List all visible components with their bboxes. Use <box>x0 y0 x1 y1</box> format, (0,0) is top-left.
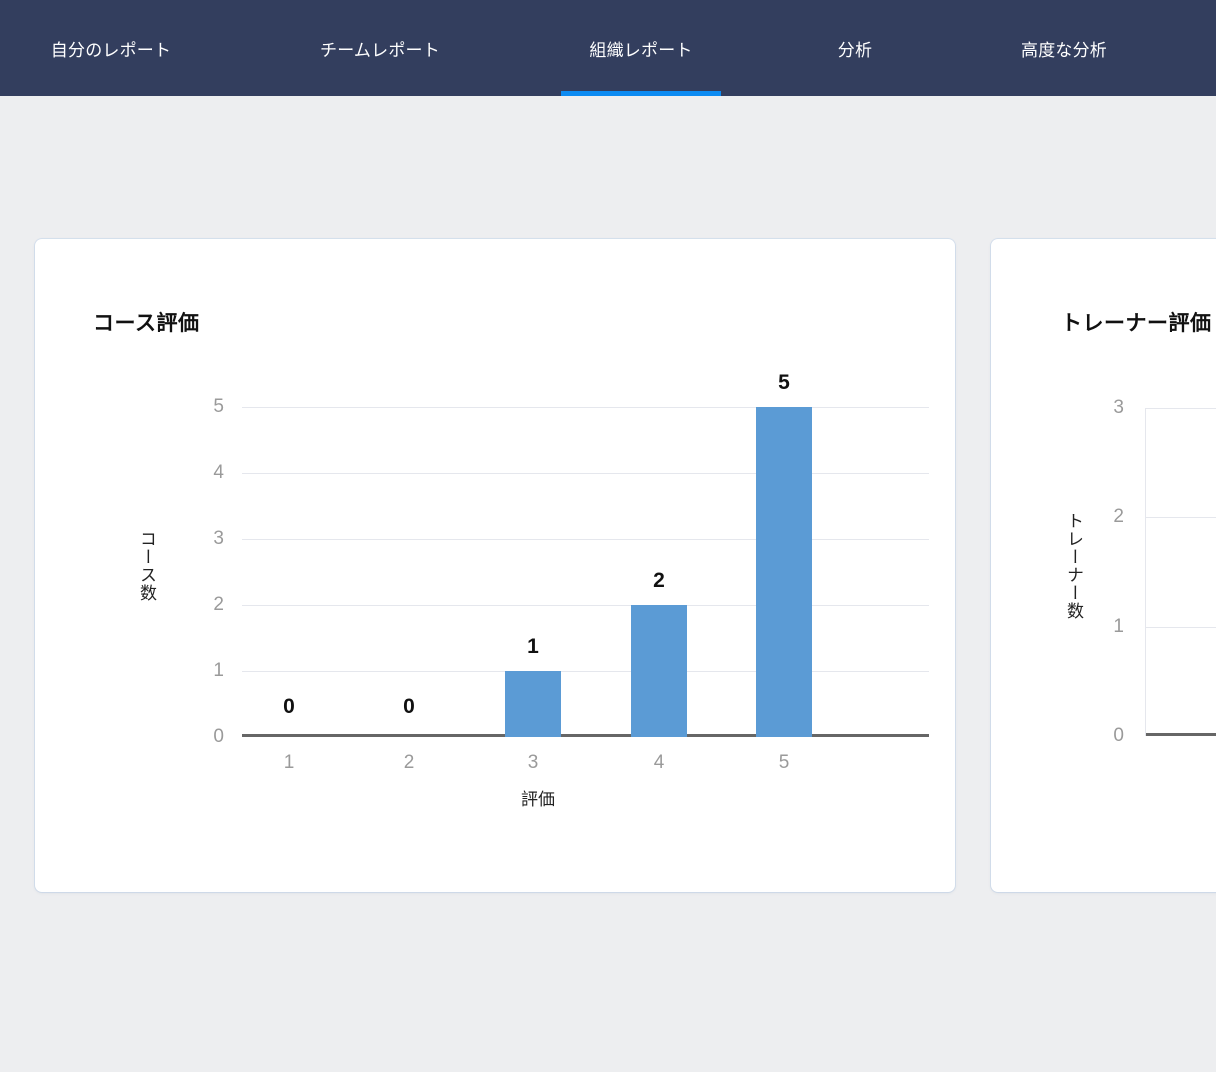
course-rating-card: コース評価 コース数 0 1 2 3 4 5 0 0 1 <box>35 239 955 892</box>
plot-area: 0 1 2 3 4 5 0 0 1 2 5 1 2 3 4 5 評価 <box>242 407 929 737</box>
trainer-rating-card: トレーナー評価 トレーナー数 0 1 2 3 <box>991 239 1216 892</box>
y-tick2-3: 3 <box>1113 397 1124 419</box>
bar-rating-3[interactable] <box>505 671 561 737</box>
bar-rating-4[interactable] <box>631 605 687 737</box>
gridline-y5 <box>242 407 929 408</box>
tab-organization-report-label: 組織レポート <box>589 36 692 61</box>
gridline-y3 <box>242 539 929 540</box>
tab-advanced-analytics[interactable]: 高度な分析 <box>1004 0 1124 96</box>
plot-area-secondary: 0 1 2 3 <box>1145 408 1216 736</box>
tab-team-report-label: チームレポート <box>320 36 440 61</box>
y-tick-1: 1 <box>213 660 224 682</box>
y-axis-label-course-count: コース数 <box>134 530 159 602</box>
y-tick-2: 2 <box>213 594 224 616</box>
y-axis-label-trainer-count: トレーナー数 <box>1061 512 1086 620</box>
bar-rating-5[interactable] <box>756 407 812 737</box>
y-tick-3: 3 <box>213 528 224 550</box>
tab-advanced-analytics-label: 高度な分析 <box>1021 36 1107 61</box>
x-axis-label-rating: 評価 <box>521 785 555 810</box>
tab-team-report[interactable]: チームレポート <box>311 0 449 96</box>
top-navigation-bar: 自分のレポート チームレポート 組織レポート 分析 高度な分析 <box>0 0 1216 96</box>
x-tick-4: 4 <box>654 752 665 774</box>
bar-value-rating-5: 5 <box>778 371 790 395</box>
x-tick-1: 1 <box>284 752 295 774</box>
gridline-y2 <box>242 605 929 606</box>
x-axis-baseline <box>242 734 929 737</box>
y-tick-0: 0 <box>213 726 224 748</box>
y-tick2-0: 0 <box>1113 725 1124 747</box>
y-tick-4: 4 <box>213 462 224 484</box>
tab-my-report[interactable]: 自分のレポート <box>40 0 182 96</box>
bar-value-rating-2: 0 <box>403 695 415 719</box>
tab-analytics[interactable]: 分析 <box>826 0 884 96</box>
tab-my-report-label: 自分のレポート <box>51 36 171 61</box>
gridline2-y1 <box>1146 627 1216 628</box>
gridline2-y3 <box>1146 408 1216 409</box>
y-tick2-2: 2 <box>1113 506 1124 528</box>
y-tick2-1: 1 <box>1113 616 1124 638</box>
course-rating-bar-chart: コース数 0 1 2 3 4 5 0 0 1 2 5 <box>35 239 955 892</box>
gridline2-y2 <box>1146 517 1216 518</box>
x-axis-baseline-secondary <box>1146 733 1216 736</box>
x-tick-2: 2 <box>404 752 415 774</box>
bar-value-rating-3: 1 <box>527 635 539 659</box>
tab-analytics-label: 分析 <box>838 36 872 61</box>
y-tick-5: 5 <box>213 396 224 418</box>
x-tick-3: 3 <box>528 752 539 774</box>
bar-value-rating-1: 0 <box>283 695 295 719</box>
tab-organization-report[interactable]: 組織レポート <box>561 0 721 96</box>
gridline-y4 <box>242 473 929 474</box>
bar-value-rating-4: 2 <box>653 569 665 593</box>
gridline-y1 <box>242 671 929 672</box>
x-tick-5: 5 <box>779 752 790 774</box>
trainer-rating-bar-chart: トレーナー数 0 1 2 3 <box>991 239 1216 892</box>
active-tab-indicator <box>561 91 721 96</box>
